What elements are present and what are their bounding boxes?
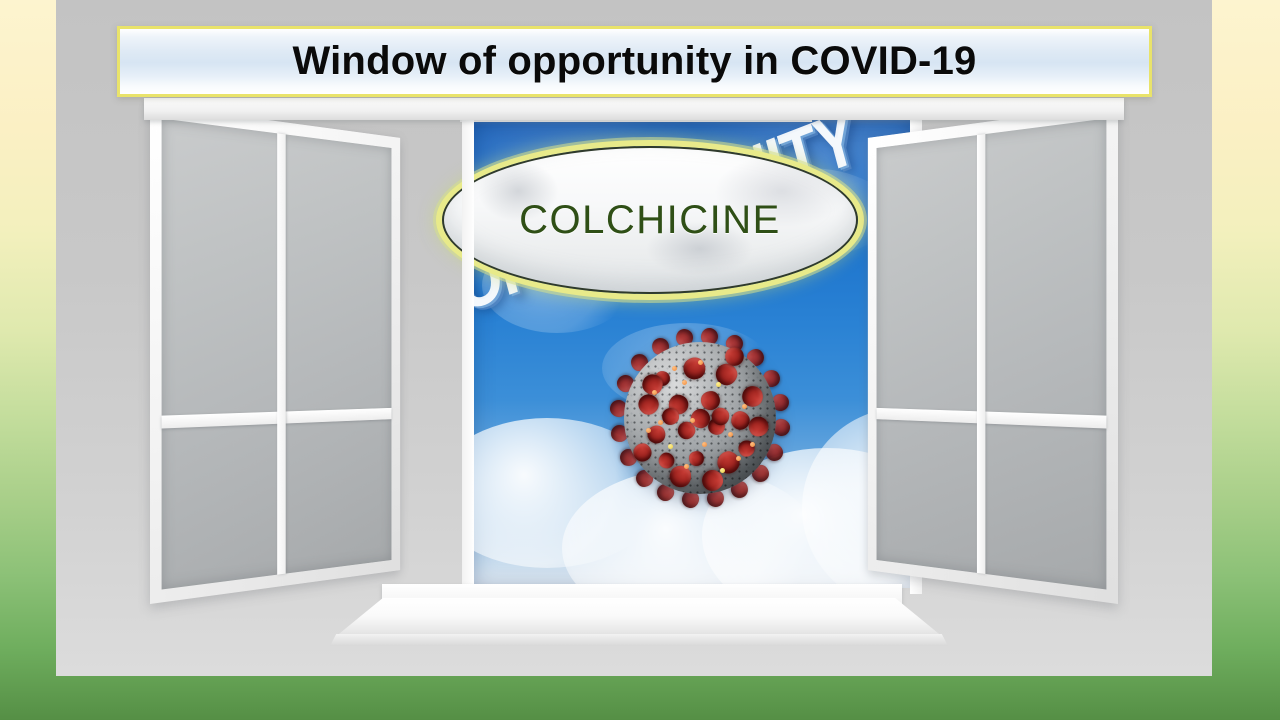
virus-accent-nub [750,442,755,447]
virus-accent-nub [684,464,689,469]
window-shutter-right[interactable] [868,104,1118,604]
window-frame-header [144,98,1124,120]
content-panel: OPPORTUNITY COLCHICINE [56,0,1212,676]
virus-spike [657,451,674,468]
virus-accent-nub [736,456,741,461]
window-sill [334,598,944,638]
virus-accent-nub [702,442,707,447]
shutter-glass [877,118,1107,589]
virus-accent-nub [720,468,725,473]
virus-accent-nub [658,420,663,425]
virus-accent-nub [690,418,695,423]
colchicine-label: COLCHICINE [519,198,781,243]
virus-accent-nub [698,360,703,365]
virus-accent-nub [646,428,651,433]
coronavirus-icon [600,318,800,518]
virus-accent-nub [682,380,687,385]
window-assembly: OPPORTUNITY COLCHICINE [144,98,1124,658]
virus-accent-nub [668,444,673,449]
window-shutter-left[interactable] [150,104,400,604]
shutter-sash [150,104,400,604]
window-sill-edge [330,634,948,646]
shutter-sash [868,104,1118,604]
page-title: Window of opportunity in COVID-19 [293,39,977,84]
virus-spike [711,407,730,426]
window-frame-left-jamb [462,114,474,594]
colchicine-callout: COLCHICINE [442,146,858,294]
virus-accent-nub [742,404,747,409]
virus-accent-nub [728,432,733,437]
virus-accent-nub [652,390,657,395]
virus-accent-nub [672,366,677,371]
title-banner: Window of opportunity in COVID-19 [117,26,1152,97]
virus-accent-nub [716,382,721,387]
shutter-mullion-vertical [977,134,985,574]
slide-canvas: OPPORTUNITY COLCHICINE [0,0,1280,720]
shutter-mullion-vertical [277,133,286,574]
